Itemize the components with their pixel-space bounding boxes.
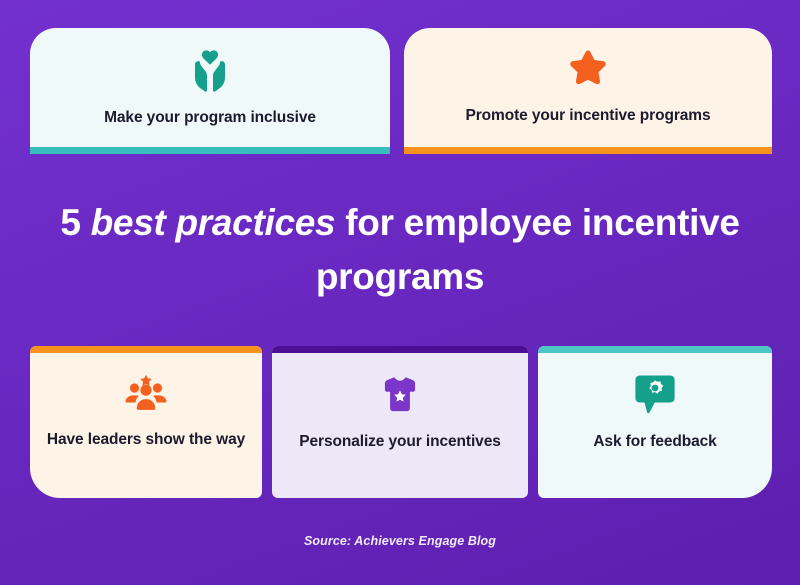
card-label: Promote your incentive programs xyxy=(456,106,721,127)
card-label: Ask for feedback xyxy=(583,432,726,453)
hands-heart-icon xyxy=(187,48,233,92)
speech-bubble-gear-icon xyxy=(635,374,675,416)
source-attribution: Source: Achievers Engage Blog xyxy=(0,534,800,548)
card-accent-bar xyxy=(538,346,772,353)
card-promote-incentive-programs[interactable]: Promote your incentive programs xyxy=(404,28,772,154)
card-make-program-inclusive[interactable]: Make your program inclusive xyxy=(30,28,390,154)
card-ask-for-feedback[interactable]: Ask for feedback xyxy=(538,346,772,498)
headline-lead: 5 xyxy=(60,202,90,243)
headline-emphasis: best practices xyxy=(91,202,336,243)
card-label: Make your program inclusive xyxy=(94,108,326,129)
card-accent-bar xyxy=(404,147,772,154)
card-label: Personalize your incentives xyxy=(289,432,510,453)
headline-tail: for employee incentive programs xyxy=(316,202,740,297)
infographic-canvas: Make your program inclusive Promote your… xyxy=(0,0,800,585)
card-personalize-your-incentives[interactable]: Personalize your incentives xyxy=(272,346,528,498)
card-have-leaders-show-the-way[interactable]: Have leaders show the way xyxy=(30,346,262,498)
card-accent-bar xyxy=(30,147,390,154)
tshirt-star-icon xyxy=(379,374,421,416)
card-accent-bar xyxy=(272,346,528,353)
star-icon xyxy=(567,48,609,90)
card-label: Have leaders show the way xyxy=(37,430,255,451)
people-group-star-icon xyxy=(124,374,168,414)
card-accent-bar xyxy=(30,346,262,353)
page-title: 5 best practices for employee incentive … xyxy=(0,196,800,303)
